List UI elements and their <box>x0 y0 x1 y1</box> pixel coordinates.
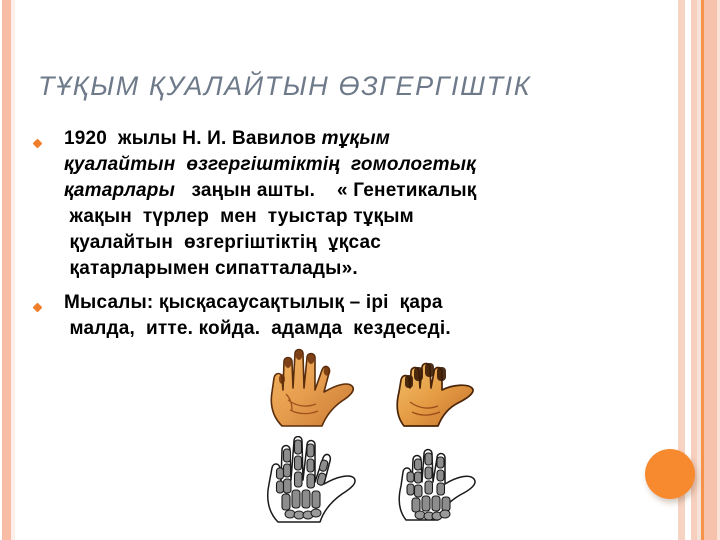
list-item-text: Мысалы: қысқасаусақтылық – ірі қара малд… <box>64 290 514 342</box>
decor-stripe-left-main <box>2 0 11 540</box>
list-item: Мысалы: қысқасаусақтылық – ірі қара малд… <box>34 290 514 342</box>
diamond-bullet-icon <box>34 290 64 316</box>
list-item-text: 1920 жылы Н. И. Вавилов тұқым қуалайтын … <box>64 126 514 282</box>
text-run: Мысалы: қысқасаусақтылық – ірі қара <box>64 292 443 313</box>
normal-hand-xray <box>258 436 366 524</box>
text-run-emphasis: қуалайтын өзгергіштіктің гомологтық <box>64 154 476 175</box>
text-run: қатарларымен сипатталады». <box>64 258 358 279</box>
text-run-emphasis: қатарлары <box>64 180 175 201</box>
text-line: қатарларымен сипатталады». <box>64 256 514 282</box>
hands-illustration <box>258 348 498 528</box>
text-run: 1920 жылы Н. И. Вавилов <box>64 128 322 149</box>
text-run-emphasis: тұқым <box>322 128 390 149</box>
text-run: малда, итте. койда. адамда кездеседі. <box>64 318 451 339</box>
text-line: малда, итте. койда. адамда кездеседі. <box>64 316 514 342</box>
diamond-bullet-icon <box>34 126 64 152</box>
text-line: қатарлары заңын ашты. « Генетикалық <box>64 178 514 204</box>
text-line: 1920 жылы Н. И. Вавилов тұқым <box>64 126 514 152</box>
page-title: ТҰҚЫМ ҚУАЛАЙТЫН ӨЗГЕРГІШТІК <box>38 70 658 102</box>
text-run: жақын түрлер мен туыстар тұқым <box>64 206 414 227</box>
normal-hand-photo <box>260 348 364 428</box>
brachydactyly-hand-xray <box>390 442 486 522</box>
text-line: қуалайтын өзгергіштіктің ұқсас <box>64 230 514 256</box>
decor-stripe-right-6 <box>704 0 717 540</box>
text-run: қуалайтын өзгергіштіктің ұқсас <box>64 232 381 253</box>
decor-stripe-left-soft <box>11 0 15 540</box>
text-run: заңын ашты. « Генетикалық <box>175 180 476 201</box>
text-line: жақын түрлер мен туыстар тұқым <box>64 204 514 230</box>
list-item: 1920 жылы Н. И. Вавилов тұқым қуалайтын … <box>34 126 514 282</box>
brachydactyly-hand-photo <box>388 354 484 428</box>
decor-circle-accent <box>645 449 695 499</box>
text-line: Мысалы: қысқасаусақтылық – ірі қара <box>64 290 514 316</box>
text-line: қуалайтын өзгергіштіктің гомологтық <box>64 152 514 178</box>
bullet-list: 1920 жылы Н. И. Вавилов тұқым қуалайтын … <box>34 126 514 350</box>
slide-canvas: ТҰҚЫМ ҚУАЛАЙТЫН ӨЗГЕРГІШТІК 1920 жылы Н.… <box>0 0 720 540</box>
